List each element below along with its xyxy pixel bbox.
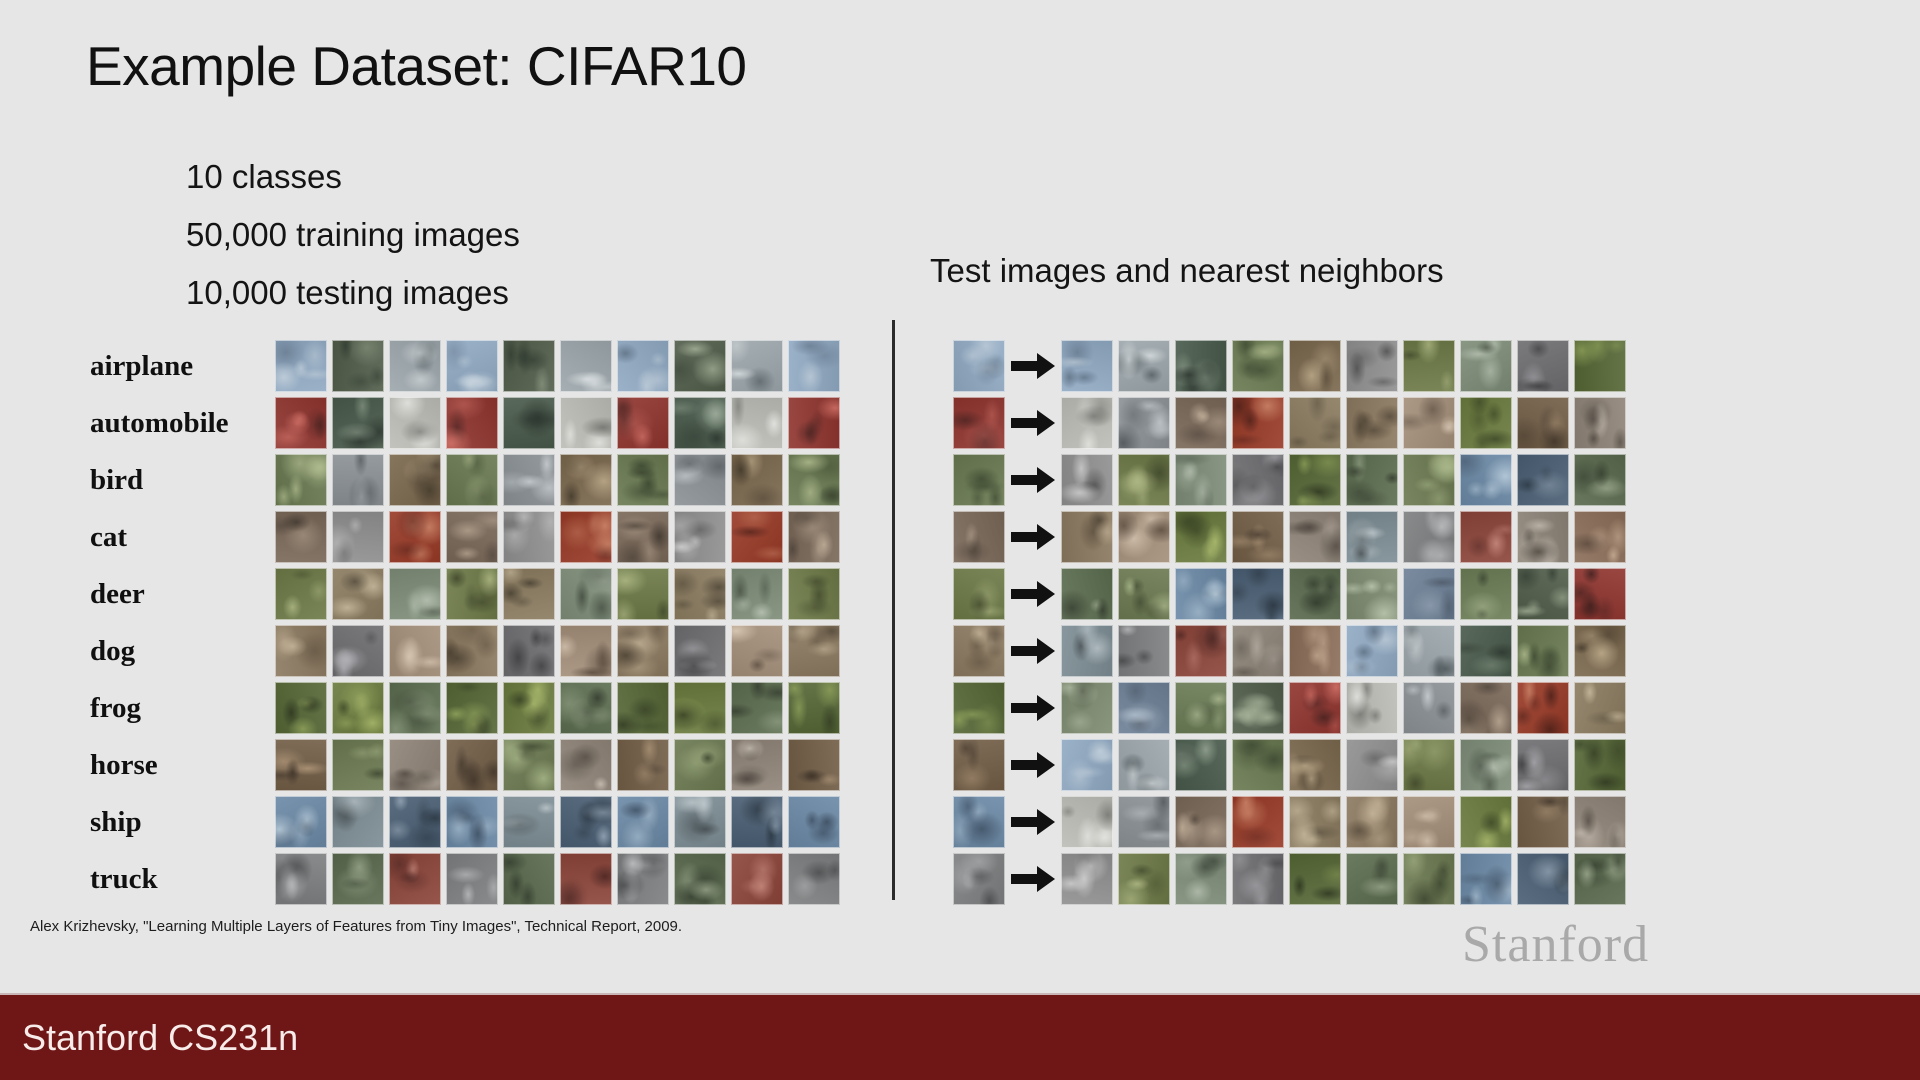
neighbor-thumbnail [1175, 340, 1227, 392]
neighbor-thumbnail [1346, 625, 1398, 677]
class-sample-thumbnail [332, 853, 384, 905]
test-image-thumbnail [953, 739, 1005, 791]
class-sample-thumbnail [446, 340, 498, 392]
class-sample-thumbnail [788, 853, 840, 905]
class-sample-thumbnail [674, 340, 726, 392]
neighbor-thumbnail [1118, 454, 1170, 506]
class-sample-thumbnail [446, 397, 498, 449]
neighbor-thumbnail [1517, 568, 1569, 620]
neighbor-thumbnail-strip [1061, 853, 1626, 905]
nearest-neighbor-row [953, 682, 1626, 734]
class-sample-thumbnail [275, 511, 327, 563]
class-sample-thumbnail [389, 853, 441, 905]
neighbor-thumbnail [1289, 568, 1341, 620]
class-sample-thumbnail [617, 853, 669, 905]
test-image-thumbnail [953, 568, 1005, 620]
class-sample-thumbnail [788, 511, 840, 563]
neighbor-thumbnail [1517, 739, 1569, 791]
neighbor-thumbnail [1346, 796, 1398, 848]
neighbor-thumbnail [1175, 796, 1227, 848]
neighbor-thumbnail [1403, 397, 1455, 449]
fact-testing-images: 10,000 testing images [186, 264, 520, 322]
class-sample-thumbnail [275, 454, 327, 506]
class-sample-thumbnail [560, 739, 612, 791]
class-sample-thumbnail [674, 568, 726, 620]
class-sample-thumbnail [617, 454, 669, 506]
neighbor-thumbnail [1232, 853, 1284, 905]
neighbor-thumbnail [1118, 796, 1170, 848]
class-sample-thumbnail [788, 340, 840, 392]
class-sample-thumbnail [560, 568, 612, 620]
class-row: deer [90, 568, 840, 620]
class-row: frog [90, 682, 840, 734]
nearest-neighbor-row [953, 397, 1626, 449]
neighbor-thumbnail [1574, 454, 1626, 506]
class-sample-thumbnail [731, 454, 783, 506]
class-sample-thumbnail [731, 625, 783, 677]
neighbor-thumbnail [1061, 511, 1113, 563]
neighbor-thumbnail [1061, 682, 1113, 734]
class-sample-thumbnail [788, 682, 840, 734]
class-sample-thumbnail [788, 454, 840, 506]
neighbor-thumbnail [1118, 568, 1170, 620]
class-sample-thumbnail [275, 739, 327, 791]
nearest-neighbor-row [953, 625, 1626, 677]
neighbor-thumbnail [1175, 739, 1227, 791]
class-sample-thumbnail [788, 739, 840, 791]
class-sample-thumbnail [788, 397, 840, 449]
neighbor-thumbnail [1289, 397, 1341, 449]
neighbor-thumbnail [1061, 454, 1113, 506]
neighbor-thumbnail [1232, 568, 1284, 620]
slide-canvas: Example Dataset: CIFAR10 10 classes 50,0… [0, 0, 1920, 1080]
class-sample-thumbnail [560, 796, 612, 848]
neighbor-thumbnail [1403, 739, 1455, 791]
class-sample-thumbnail [389, 397, 441, 449]
neighbor-thumbnail [1175, 625, 1227, 677]
arrow-right-icon [1005, 579, 1061, 609]
page-title: Example Dataset: CIFAR10 [86, 34, 747, 98]
neighbor-thumbnail [1574, 739, 1626, 791]
nearest-neighbor-row [953, 454, 1626, 506]
neighbor-thumbnail [1460, 397, 1512, 449]
neighbor-thumbnail [1289, 625, 1341, 677]
class-row: bird [90, 454, 840, 506]
test-image-thumbnail [953, 397, 1005, 449]
class-sample-thumbnail [446, 625, 498, 677]
neighbor-thumbnail [1175, 568, 1227, 620]
class-sample-thumbnail [332, 625, 384, 677]
class-sample-thumbnail [617, 625, 669, 677]
class-sample-thumbnail [617, 340, 669, 392]
class-row: horse [90, 739, 840, 791]
class-sample-thumbnail [560, 397, 612, 449]
class-sample-thumbnail [731, 796, 783, 848]
fact-training-images: 50,000 training images [186, 206, 520, 264]
class-sample-thumbnail [674, 454, 726, 506]
class-thumbnail-strip [275, 625, 840, 677]
class-sample-thumbnail [275, 568, 327, 620]
neighbor-thumbnail [1175, 682, 1227, 734]
class-sample-thumbnail [503, 397, 555, 449]
nearest-neighbors-heading: Test images and nearest neighbors [930, 252, 1444, 290]
neighbor-thumbnail [1289, 739, 1341, 791]
class-sample-thumbnail [389, 568, 441, 620]
class-sample-thumbnail [332, 682, 384, 734]
class-sample-thumbnail [389, 739, 441, 791]
neighbor-thumbnail [1289, 340, 1341, 392]
class-sample-thumbnail [503, 625, 555, 677]
class-sample-thumbnail [731, 568, 783, 620]
neighbor-thumbnail [1232, 739, 1284, 791]
neighbor-thumbnail [1574, 568, 1626, 620]
class-thumbnail-strip [275, 454, 840, 506]
neighbor-thumbnail [1460, 625, 1512, 677]
test-image-thumbnail [953, 511, 1005, 563]
class-sample-thumbnail [503, 511, 555, 563]
arrow-right-icon [1005, 750, 1061, 780]
class-sample-thumbnail [389, 340, 441, 392]
class-sample-thumbnail [617, 796, 669, 848]
class-label-cat: cat [90, 523, 275, 552]
nearest-neighbor-row [953, 340, 1626, 392]
neighbor-thumbnail [1460, 340, 1512, 392]
class-sample-thumbnail [560, 853, 612, 905]
class-sample-thumbnail [275, 796, 327, 848]
class-sample-thumbnail [389, 625, 441, 677]
class-sample-thumbnail [332, 568, 384, 620]
class-sample-thumbnail [788, 625, 840, 677]
arrow-right-icon [1005, 807, 1061, 837]
neighbor-thumbnail [1460, 739, 1512, 791]
neighbor-thumbnail [1175, 454, 1227, 506]
neighbor-thumbnail [1175, 511, 1227, 563]
neighbor-thumbnail [1574, 625, 1626, 677]
class-sample-thumbnail [731, 397, 783, 449]
test-image-thumbnail [953, 340, 1005, 392]
class-sample-thumbnail [446, 682, 498, 734]
neighbor-thumbnail [1232, 682, 1284, 734]
class-sample-thumbnail [674, 739, 726, 791]
class-sample-thumbnail [560, 454, 612, 506]
class-sample-thumbnail [503, 796, 555, 848]
class-thumbnail-strip [275, 853, 840, 905]
neighbor-thumbnail [1460, 454, 1512, 506]
neighbor-thumbnail [1574, 397, 1626, 449]
arrow-right-icon [1005, 351, 1061, 381]
neighbor-thumbnail [1517, 625, 1569, 677]
neighbor-thumbnail [1517, 397, 1569, 449]
class-sample-thumbnail [674, 796, 726, 848]
class-sample-thumbnail [332, 739, 384, 791]
class-sample-thumbnail [446, 796, 498, 848]
class-row: automobile [90, 397, 840, 449]
neighbor-thumbnail [1346, 682, 1398, 734]
class-sample-thumbnail [503, 682, 555, 734]
dataset-facts-list: 10 classes 50,000 training images 10,000… [186, 148, 520, 322]
neighbor-thumbnail [1517, 853, 1569, 905]
neighbor-thumbnail [1346, 853, 1398, 905]
class-thumbnail-strip [275, 511, 840, 563]
class-sample-thumbnail [446, 853, 498, 905]
class-sample-thumbnail [617, 568, 669, 620]
class-row: airplane [90, 340, 840, 392]
class-row: cat [90, 511, 840, 563]
neighbor-thumbnail-strip [1061, 739, 1626, 791]
class-label-airplane: airplane [90, 352, 275, 381]
nearest-neighbors-grid [953, 340, 1626, 910]
neighbor-thumbnail [1061, 340, 1113, 392]
class-sample-thumbnail [560, 511, 612, 563]
class-sample-thumbnail [560, 340, 612, 392]
neighbor-thumbnail [1460, 511, 1512, 563]
neighbor-thumbnail [1460, 853, 1512, 905]
neighbor-thumbnail [1061, 568, 1113, 620]
neighbor-thumbnail [1403, 796, 1455, 848]
class-sample-thumbnail [788, 796, 840, 848]
class-thumbnail-strip [275, 796, 840, 848]
neighbor-thumbnail [1403, 625, 1455, 677]
arrow-right-icon [1005, 408, 1061, 438]
neighbor-thumbnail [1118, 682, 1170, 734]
nearest-neighbor-row [953, 796, 1626, 848]
class-sample-thumbnail [332, 454, 384, 506]
neighbor-thumbnail [1460, 568, 1512, 620]
class-sample-thumbnail [275, 853, 327, 905]
fact-classes: 10 classes [186, 148, 520, 206]
neighbor-thumbnail-strip [1061, 397, 1626, 449]
neighbor-thumbnail [1517, 511, 1569, 563]
neighbor-thumbnail [1460, 796, 1512, 848]
neighbor-thumbnail [1574, 682, 1626, 734]
neighbor-thumbnail [1346, 454, 1398, 506]
neighbor-thumbnail [1574, 340, 1626, 392]
citation-text: Alex Krizhevsky, "Learning Multiple Laye… [30, 918, 682, 935]
class-sample-thumbnail [617, 511, 669, 563]
class-sample-thumbnail [275, 682, 327, 734]
class-sample-thumbnail [731, 340, 783, 392]
class-label-deer: deer [90, 580, 275, 609]
class-sample-thumbnail [275, 625, 327, 677]
test-image-thumbnail [953, 796, 1005, 848]
neighbor-thumbnail-strip [1061, 340, 1626, 392]
class-sample-thumbnail [389, 682, 441, 734]
test-image-thumbnail [953, 625, 1005, 677]
neighbor-thumbnail [1232, 340, 1284, 392]
nearest-neighbor-row [953, 853, 1626, 905]
neighbor-thumbnail [1232, 454, 1284, 506]
neighbor-thumbnail [1574, 511, 1626, 563]
neighbor-thumbnail [1061, 796, 1113, 848]
class-sample-thumbnail [788, 568, 840, 620]
class-sample-thumbnail [674, 397, 726, 449]
class-sample-thumbnail [503, 853, 555, 905]
class-sample-thumbnail [332, 340, 384, 392]
class-label-horse: horse [90, 751, 275, 780]
class-sample-thumbnail [446, 511, 498, 563]
class-sample-thumbnail [503, 568, 555, 620]
neighbor-thumbnail [1403, 340, 1455, 392]
class-label-ship: ship [90, 808, 275, 837]
class-sample-thumbnail [503, 739, 555, 791]
class-sample-thumbnail [332, 397, 384, 449]
class-sample-thumbnail [731, 739, 783, 791]
neighbor-thumbnail [1574, 853, 1626, 905]
footer-course-label: Stanford CS231n [22, 1017, 298, 1059]
class-sample-thumbnail [446, 568, 498, 620]
class-sample-thumbnail [503, 340, 555, 392]
class-row: dog [90, 625, 840, 677]
neighbor-thumbnail [1232, 397, 1284, 449]
neighbor-thumbnail-strip [1061, 625, 1626, 677]
class-thumbnail-strip [275, 739, 840, 791]
arrow-right-icon [1005, 693, 1061, 723]
class-label-frog: frog [90, 694, 275, 723]
neighbor-thumbnail [1346, 397, 1398, 449]
class-sample-thumbnail [617, 397, 669, 449]
class-thumbnail-strip [275, 340, 840, 392]
class-sample-thumbnail [389, 796, 441, 848]
neighbor-thumbnail [1289, 853, 1341, 905]
class-sample-thumbnail [275, 397, 327, 449]
neighbor-thumbnail [1346, 340, 1398, 392]
class-sample-thumbnail [389, 454, 441, 506]
neighbor-thumbnail [1118, 511, 1170, 563]
neighbor-thumbnail [1460, 682, 1512, 734]
test-image-thumbnail [953, 454, 1005, 506]
neighbor-thumbnail [1289, 682, 1341, 734]
arrow-right-icon [1005, 636, 1061, 666]
neighbor-thumbnail [1403, 511, 1455, 563]
neighbor-thumbnail [1403, 682, 1455, 734]
neighbor-thumbnail-strip [1061, 511, 1626, 563]
neighbor-thumbnail [1289, 454, 1341, 506]
class-sample-thumbnail [674, 511, 726, 563]
neighbor-thumbnail-strip [1061, 796, 1626, 848]
neighbor-thumbnail [1517, 796, 1569, 848]
neighbor-thumbnail [1061, 397, 1113, 449]
arrow-right-icon [1005, 864, 1061, 894]
neighbor-thumbnail [1346, 511, 1398, 563]
class-sample-thumbnail [332, 511, 384, 563]
class-sample-thumbnail [332, 796, 384, 848]
class-sample-thumbnail [503, 454, 555, 506]
class-label-automobile: automobile [90, 409, 275, 438]
neighbor-thumbnail [1175, 853, 1227, 905]
neighbor-thumbnail [1061, 625, 1113, 677]
class-sample-thumbnail [731, 853, 783, 905]
neighbor-thumbnail [1346, 739, 1398, 791]
nearest-neighbor-row [953, 511, 1626, 563]
class-sample-thumbnail [446, 739, 498, 791]
class-sample-thumbnail [446, 454, 498, 506]
neighbor-thumbnail [1403, 853, 1455, 905]
class-sample-thumbnail [560, 625, 612, 677]
neighbor-thumbnail [1403, 454, 1455, 506]
nearest-neighbor-row [953, 739, 1626, 791]
nearest-neighbor-row [953, 568, 1626, 620]
class-sample-thumbnail [731, 682, 783, 734]
neighbor-thumbnail [1061, 853, 1113, 905]
neighbor-thumbnail [1118, 340, 1170, 392]
test-image-thumbnail [953, 853, 1005, 905]
neighbor-thumbnail [1517, 340, 1569, 392]
neighbor-thumbnail [1175, 397, 1227, 449]
class-sample-thumbnail [674, 682, 726, 734]
neighbor-thumbnail [1574, 796, 1626, 848]
class-sample-thumbnail [560, 682, 612, 734]
class-sample-thumbnail [674, 853, 726, 905]
class-label-truck: truck [90, 865, 275, 894]
class-row: ship [90, 796, 840, 848]
class-thumbnail-strip [275, 397, 840, 449]
neighbor-thumbnail [1289, 511, 1341, 563]
neighbor-thumbnail [1118, 853, 1170, 905]
neighbor-thumbnail [1346, 568, 1398, 620]
neighbor-thumbnail-strip [1061, 568, 1626, 620]
neighbor-thumbnail [1232, 796, 1284, 848]
test-image-thumbnail [953, 682, 1005, 734]
neighbor-thumbnail [1118, 397, 1170, 449]
class-sample-thumbnail [731, 511, 783, 563]
class-sample-thumbnail [389, 511, 441, 563]
neighbor-thumbnail [1517, 454, 1569, 506]
class-label-dog: dog [90, 637, 275, 666]
class-sample-thumbnail [617, 682, 669, 734]
class-thumbnail-strip [275, 682, 840, 734]
neighbor-thumbnail [1289, 796, 1341, 848]
class-sample-grid: airplaneautomobilebirdcatdeerdogfroghors… [90, 340, 840, 910]
neighbor-thumbnail [1517, 682, 1569, 734]
neighbor-thumbnail [1118, 739, 1170, 791]
class-sample-thumbnail [674, 625, 726, 677]
neighbor-thumbnail-strip [1061, 682, 1626, 734]
class-sample-thumbnail [617, 739, 669, 791]
neighbor-thumbnail [1232, 511, 1284, 563]
neighbor-thumbnail [1118, 625, 1170, 677]
class-sample-thumbnail [275, 340, 327, 392]
arrow-right-icon [1005, 522, 1061, 552]
neighbor-thumbnail [1232, 625, 1284, 677]
arrow-right-icon [1005, 465, 1061, 495]
class-thumbnail-strip [275, 568, 840, 620]
class-label-bird: bird [90, 466, 275, 495]
neighbor-thumbnail [1061, 739, 1113, 791]
stanford-wordmark: Stanford [1462, 915, 1649, 974]
footer-bar: Stanford CS231n [0, 993, 1920, 1080]
neighbor-thumbnail-strip [1061, 454, 1626, 506]
class-row: truck [90, 853, 840, 905]
vertical-divider [892, 320, 895, 900]
neighbor-thumbnail [1403, 568, 1455, 620]
